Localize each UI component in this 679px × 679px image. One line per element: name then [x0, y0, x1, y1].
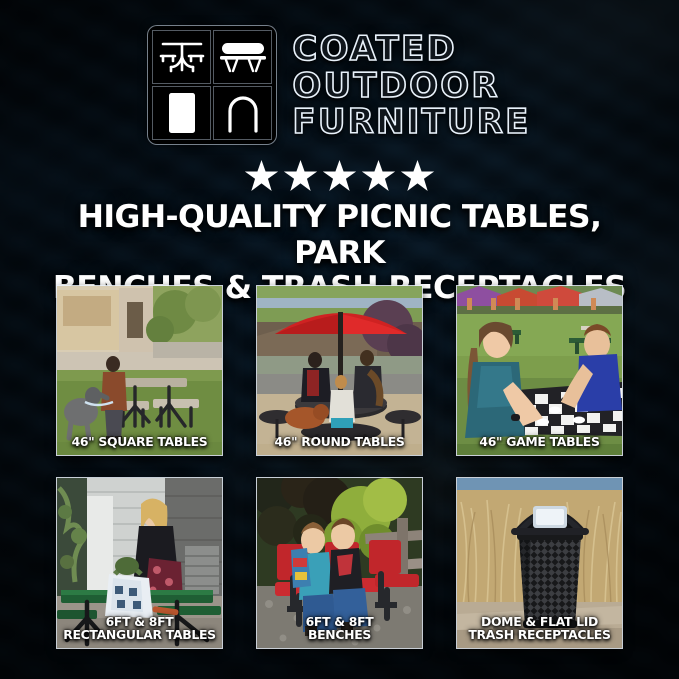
product-caption-line-2: RECTANGULAR TABLES [59, 628, 220, 642]
product-photo [57, 286, 222, 455]
product-caption-line-1: 46" GAME TABLES [459, 435, 620, 449]
product-tile-game-tables[interactable]: 46" GAME TABLES [457, 286, 622, 455]
product-caption: 6FT & 8FT RECTANGULAR TABLES [59, 615, 220, 642]
product-grid: 46" SQUARE TABLES [57, 286, 622, 648]
product-caption-line-2: BENCHES [259, 628, 420, 642]
advertisement-banner: COATED OUTDOOR FURNITURE HIGH-QUALITY PI… [0, 0, 679, 679]
star-icon [323, 160, 357, 193]
bike-rack-icon [213, 86, 272, 140]
picnic-table-icon [152, 30, 211, 84]
headline-line-1: HIGH-QUALITY PICNIC TABLES, PARK [78, 199, 602, 271]
logo-mark [148, 26, 276, 144]
product-caption: 6FT & 8FT BENCHES [259, 615, 420, 642]
product-caption-line-1: 46" ROUND TABLES [259, 435, 420, 449]
product-tile-benches[interactable]: 6FT & 8FT BENCHES [257, 478, 422, 648]
product-tile-trash-receptacles[interactable]: DOME & FLAT LID TRASH RECEPTACLES [457, 478, 622, 648]
product-caption: 46" ROUND TABLES [259, 435, 420, 449]
star-icon [245, 160, 279, 193]
product-caption-line-2: TRASH RECEPTACLES [459, 628, 620, 642]
star-icon [284, 160, 318, 193]
product-caption: 46" GAME TABLES [459, 435, 620, 449]
logo-word-coated: COATED [292, 32, 530, 67]
logo-wordmark: COATED OUTDOOR FURNITURE [292, 30, 530, 140]
product-photo [457, 286, 622, 455]
logo-word-furniture: FURNITURE [292, 105, 530, 140]
product-photo [257, 286, 422, 455]
product-tile-square-tables[interactable]: 46" SQUARE TABLES [57, 286, 222, 455]
star-icon [401, 160, 435, 193]
brand-logo: COATED OUTDOOR FURNITURE [0, 26, 679, 144]
product-caption: DOME & FLAT LID TRASH RECEPTACLES [459, 615, 620, 642]
park-bench-icon [213, 30, 272, 84]
product-caption: 46" SQUARE TABLES [59, 435, 220, 449]
product-tile-rectangular-tables[interactable]: 6FT & 8FT RECTANGULAR TABLES [57, 478, 222, 648]
logo-word-outdoor: OUTDOOR [292, 69, 530, 104]
product-tile-round-tables[interactable]: 46" ROUND TABLES [257, 286, 422, 455]
star-rating [0, 160, 679, 193]
trash-receptacle-icon [152, 86, 211, 140]
product-caption-line-1: 46" SQUARE TABLES [59, 435, 220, 449]
star-icon [362, 160, 396, 193]
